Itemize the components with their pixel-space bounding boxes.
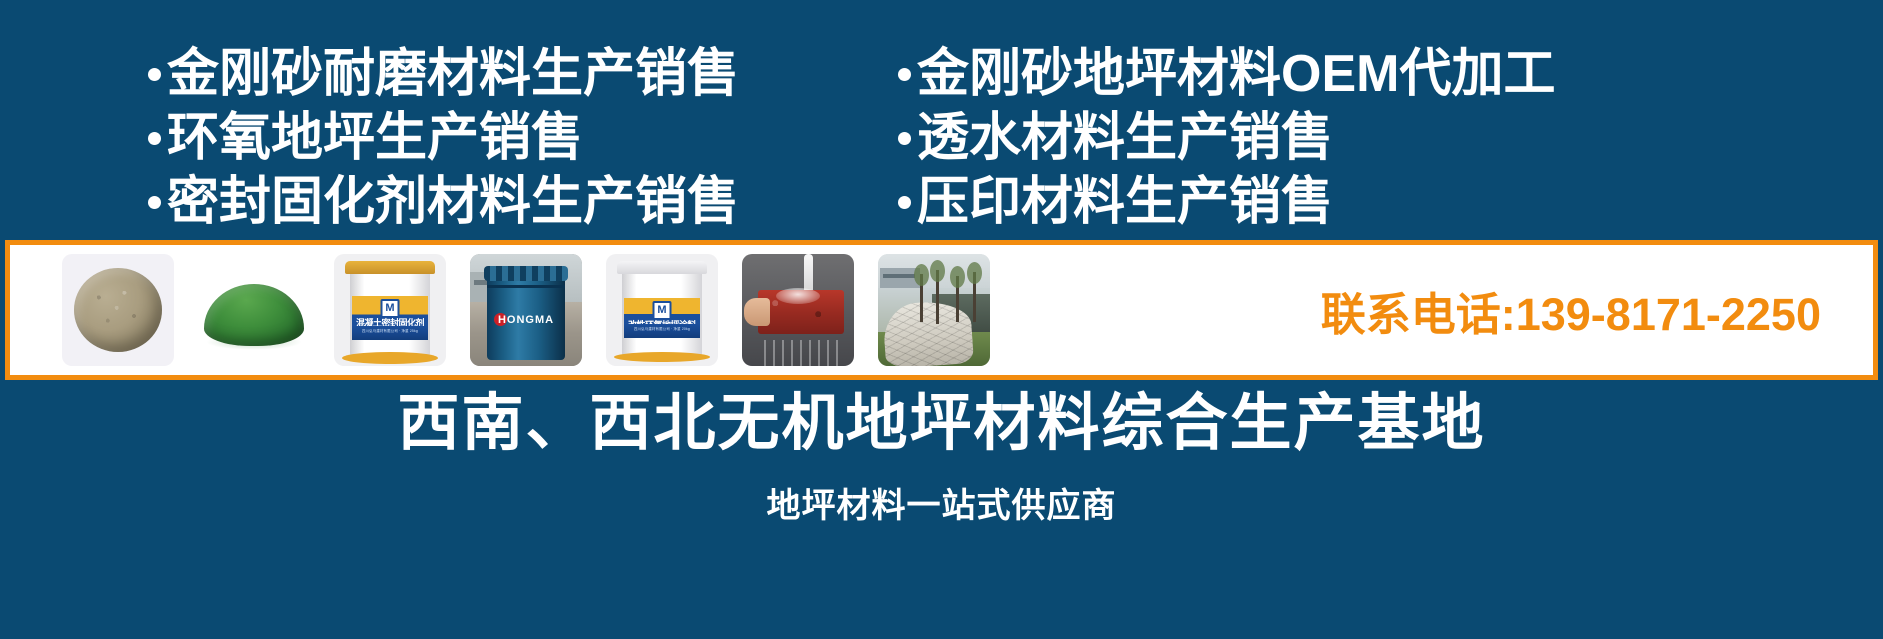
product-thumbnail-sand-powder[interactable] (62, 254, 174, 366)
service-item: 金刚砂地坪材料OEM代加工 (898, 42, 1883, 106)
path-photo-tree (936, 270, 939, 324)
bullet-dot-icon (898, 132, 911, 145)
bullet-dot-icon (898, 68, 911, 81)
bucket-label: M 混凝土密封固化剂 concrete seal curing agent 四川… (352, 296, 428, 340)
sand-pile-shape (74, 268, 162, 352)
product-thumbnail-stone-pathway[interactable] (878, 254, 990, 366)
drum-body: HONGMA (487, 268, 565, 360)
bucket-label-footer: 四川弘马建材有限公司 · 净重 20kg (624, 324, 700, 338)
bucket-base-shape (614, 352, 710, 362)
product-thumbnail-list: M 混凝土密封固化剂 concrete seal curing agent 四川… (10, 254, 990, 366)
footer-headline: 西南、西北无机地坪材料综合生产基地 (397, 390, 1485, 458)
path-photo-tree (956, 276, 959, 322)
service-item: 环氧地坪生产销售 (148, 106, 870, 170)
bullet-dot-icon (898, 196, 911, 209)
bucket-label: M 改性环氧地坪涂料 Modified epoxy floor coating … (624, 298, 700, 338)
contact-phone[interactable]: 联系电话:139-8171-2250 (1321, 278, 1873, 343)
bucket-label-fineprint: 四川弘马建材有限公司 · 净重 20kg (624, 326, 700, 331)
bucket-lid-shape (345, 261, 435, 274)
bucket-label-fineprint: 四川弘马建材有限公司 · 净重 25kg (352, 328, 428, 333)
drum-brand-label: HONGMA (487, 314, 565, 326)
bullet-dot-icon (148, 132, 161, 145)
bucket-body: M 混凝土密封固化剂 concrete seal curing agent 四川… (350, 262, 430, 360)
service-item: 金刚砂耐磨材料生产销售 (148, 42, 870, 106)
water-pool-shape (776, 288, 820, 304)
service-label: 压印材料生产销售 (917, 176, 1333, 228)
sand-grain-texture (86, 280, 150, 338)
green-pile-shape (204, 284, 304, 346)
bucket-base-shape (342, 352, 438, 364)
product-strip: M 混凝土密封固化剂 concrete seal curing agent 四川… (5, 240, 1878, 380)
product-thumbnail-hongma-drum[interactable]: HONGMA (470, 254, 582, 366)
drum-rim-shape (484, 266, 568, 281)
drum-ring-shape (487, 285, 565, 288)
path-photo-tree (973, 272, 976, 322)
footer-area: 西南、西北无机地坪材料综合生产基地 地坪材料一站式供应商 (0, 380, 1883, 639)
product-thumbnail-sealer-bucket[interactable]: M 混凝土密封固化剂 concrete seal curing agent 四川… (334, 254, 446, 366)
product-thumbnail-permeable-slab[interactable] (742, 254, 854, 366)
service-label: 金刚砂地坪材料OEM代加工 (917, 48, 1555, 100)
services-left-column: 金刚砂耐磨材料生产销售 环氧地坪生产销售 密封固化剂材料生产销售 (0, 0, 870, 234)
service-label: 金刚砂耐磨材料生产销售 (167, 48, 739, 100)
footer-tagline: 地坪材料一站式供应商 (767, 478, 1117, 527)
product-thumbnail-epoxy-bucket[interactable]: M 改性环氧地坪涂料 Modified epoxy floor coating … (606, 254, 718, 366)
service-label: 环氧地坪生产销售 (167, 112, 583, 164)
product-thumbnail-green-powder[interactable] (198, 254, 310, 366)
bucket-lid-shape (617, 261, 707, 274)
bucket-label-footer: 四川弘马建材有限公司 · 净重 25kg (352, 326, 428, 340)
bucket-body: M 改性环氧地坪涂料 Modified epoxy floor coating … (622, 262, 702, 360)
service-item: 密封固化剂材料生产销售 (148, 170, 870, 234)
service-label: 透水材料生产销售 (917, 112, 1333, 164)
service-item: 压印材料生产销售 (898, 170, 1883, 234)
bullet-dot-icon (148, 196, 161, 209)
hand-shape (744, 298, 770, 326)
advertising-banner: 金刚砂耐磨材料生产销售 环氧地坪生产销售 密封固化剂材料生产销售 金刚砂地坪材料… (0, 0, 1883, 639)
service-item: 透水材料生产销售 (898, 106, 1883, 170)
path-photo-tree (920, 274, 923, 322)
water-drip-shape (764, 340, 840, 366)
service-label: 密封固化剂材料生产销售 (167, 176, 739, 228)
bullet-dot-icon (148, 68, 161, 81)
services-right-column: 金刚砂地坪材料OEM代加工 透水材料生产销售 压印材料生产销售 (870, 0, 1883, 234)
